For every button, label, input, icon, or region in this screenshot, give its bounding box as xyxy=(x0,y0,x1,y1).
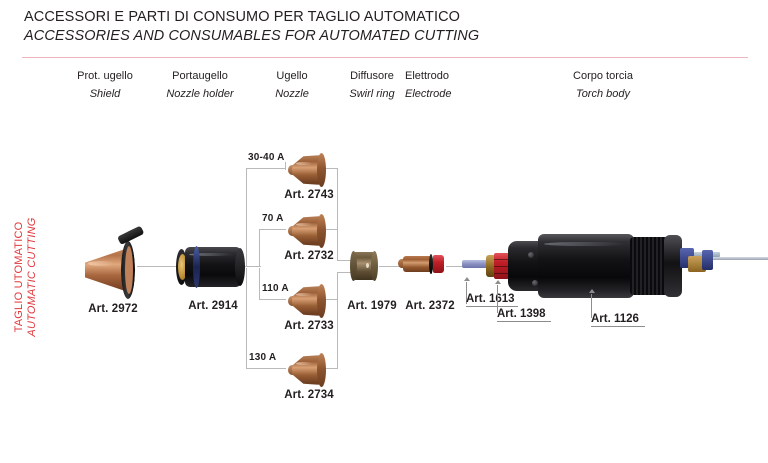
part-nozzle-2733 xyxy=(286,283,330,321)
callout-1398-underline xyxy=(497,321,551,322)
parts-diagram-page: ACCESSORI E PARTI DI CONSUMO PER TAGLIO … xyxy=(0,0,768,463)
column-header-nozzle: Ugello Nozzle xyxy=(252,70,332,101)
side-label-automatic-cutting: TAGLIO UTOMATICO AUTOMATIC CUTTING xyxy=(13,207,39,347)
rejoin-trunk-upper xyxy=(337,168,338,260)
branch-arm-130a xyxy=(246,368,286,369)
nozzle-holder-rear-cap xyxy=(235,248,245,286)
shield-tab xyxy=(117,226,144,245)
part-code-shield: Art. 2972 xyxy=(78,303,148,315)
swirl-ring-front-rim xyxy=(350,251,357,281)
part-swirl-ring xyxy=(350,250,380,284)
nozzle-base-2732 xyxy=(317,214,326,248)
pin-1613 xyxy=(462,260,488,268)
nozzle-amperage-110a: 110 A xyxy=(262,283,289,294)
part-shield xyxy=(85,238,149,302)
column-header-swirl-ring-en: Swirl ring xyxy=(332,88,412,101)
collar-red-groove-2 xyxy=(494,266,509,267)
nozzle-base-2743 xyxy=(317,153,326,187)
header-divider xyxy=(22,57,748,58)
column-header-nozzle-holder-it: Portaugello xyxy=(145,70,255,83)
column-header-shield-it: Prot. ugello xyxy=(55,70,155,83)
collar-red-groove-1 xyxy=(494,259,509,260)
nozzle-base-2734 xyxy=(317,353,326,387)
branch-stem-70a xyxy=(259,229,260,267)
column-header-nozzle-it: Ugello xyxy=(252,70,332,83)
column-header-torch-body-en: Torch body xyxy=(553,88,653,101)
branch-arm-70a xyxy=(260,229,286,230)
branch-arm-110a xyxy=(259,299,286,300)
callout-1398-label: Art. 1398 xyxy=(497,308,546,321)
column-header-nozzle-holder: Portaugello Nozzle holder xyxy=(145,70,255,101)
callout-1613-arrow xyxy=(464,277,470,281)
nozzle-amperage-70a: 70 A xyxy=(262,213,284,224)
side-label-it: TAGLIO UTOMATICO xyxy=(13,207,26,347)
torch-body-blue-fitting-2 xyxy=(702,250,713,270)
column-header-torch-body: Corpo torcia Torch body xyxy=(553,70,653,101)
torch-body-screw-top xyxy=(528,252,534,258)
part-nozzle-2743 xyxy=(286,152,330,190)
column-header-electrode-en: Electrode xyxy=(405,88,480,101)
connector-trunk-to-swirl-2 xyxy=(337,272,351,273)
callout-1398-arrow xyxy=(495,280,501,284)
column-header-swirl-ring-it: Diffusore xyxy=(332,70,412,83)
branch-arm-30-40a xyxy=(246,168,286,169)
part-code-nozzle-2732: Art. 2732 xyxy=(274,250,344,262)
part-electrode xyxy=(398,251,448,281)
part-nozzle-2734 xyxy=(286,352,330,390)
callout-1126: Art. 1126 xyxy=(591,286,653,330)
swirl-ring-rear-rim xyxy=(371,251,378,281)
swirl-ring-hole xyxy=(366,263,369,268)
nozzle-holder-blue-band xyxy=(193,246,200,288)
nozzle-amperage-130a: 130 A xyxy=(249,352,276,363)
column-header-nozzle-en: Nozzle xyxy=(252,88,332,101)
column-header-electrode: Elettrodo Electrode xyxy=(405,70,480,101)
part-nozzle-2732 xyxy=(286,213,330,251)
column-header-torch-body-it: Corpo torcia xyxy=(553,70,653,83)
part-code-nozzle-2733: Art. 2733 xyxy=(274,320,344,332)
column-header-nozzle-holder-en: Nozzle holder xyxy=(145,88,255,101)
part-code-electrode: Art. 2372 xyxy=(395,300,465,312)
column-header-swirl-ring: Diffusore Swirl ring xyxy=(332,70,412,101)
callout-1398: Art. 1398 xyxy=(497,277,559,325)
callout-1126-arrow xyxy=(589,289,595,293)
part-nozzle-holder xyxy=(171,245,253,291)
part-code-nozzle-2734: Art. 2734 xyxy=(274,389,344,401)
electrode-red-tip xyxy=(433,255,444,273)
nozzle-base-2733 xyxy=(317,284,326,318)
shield-inner-ring xyxy=(125,246,133,294)
callout-1126-label: Art. 1126 xyxy=(591,313,639,326)
side-label-en: AUTOMATIC CUTTING xyxy=(26,207,39,347)
nozzle-amperage-30-40a: 30-40 A xyxy=(248,152,285,163)
part-code-nozzle-2743: Art. 2743 xyxy=(274,189,344,201)
part-code-nozzle-holder: Art. 2914 xyxy=(178,300,248,312)
column-header-electrode-it: Elettrodo xyxy=(405,70,480,83)
branch-stem-110a xyxy=(259,268,260,300)
column-header-shield-en: Shield xyxy=(55,88,155,101)
column-header-shield: Prot. ugello Shield xyxy=(55,70,155,101)
callout-1126-underline xyxy=(591,326,645,327)
page-title-en: ACCESSORIES AND CONSUMABLES FOR AUTOMATE… xyxy=(24,28,479,44)
page-title-it: ACCESSORI E PARTI DI CONSUMO PER TAGLIO … xyxy=(24,9,460,25)
